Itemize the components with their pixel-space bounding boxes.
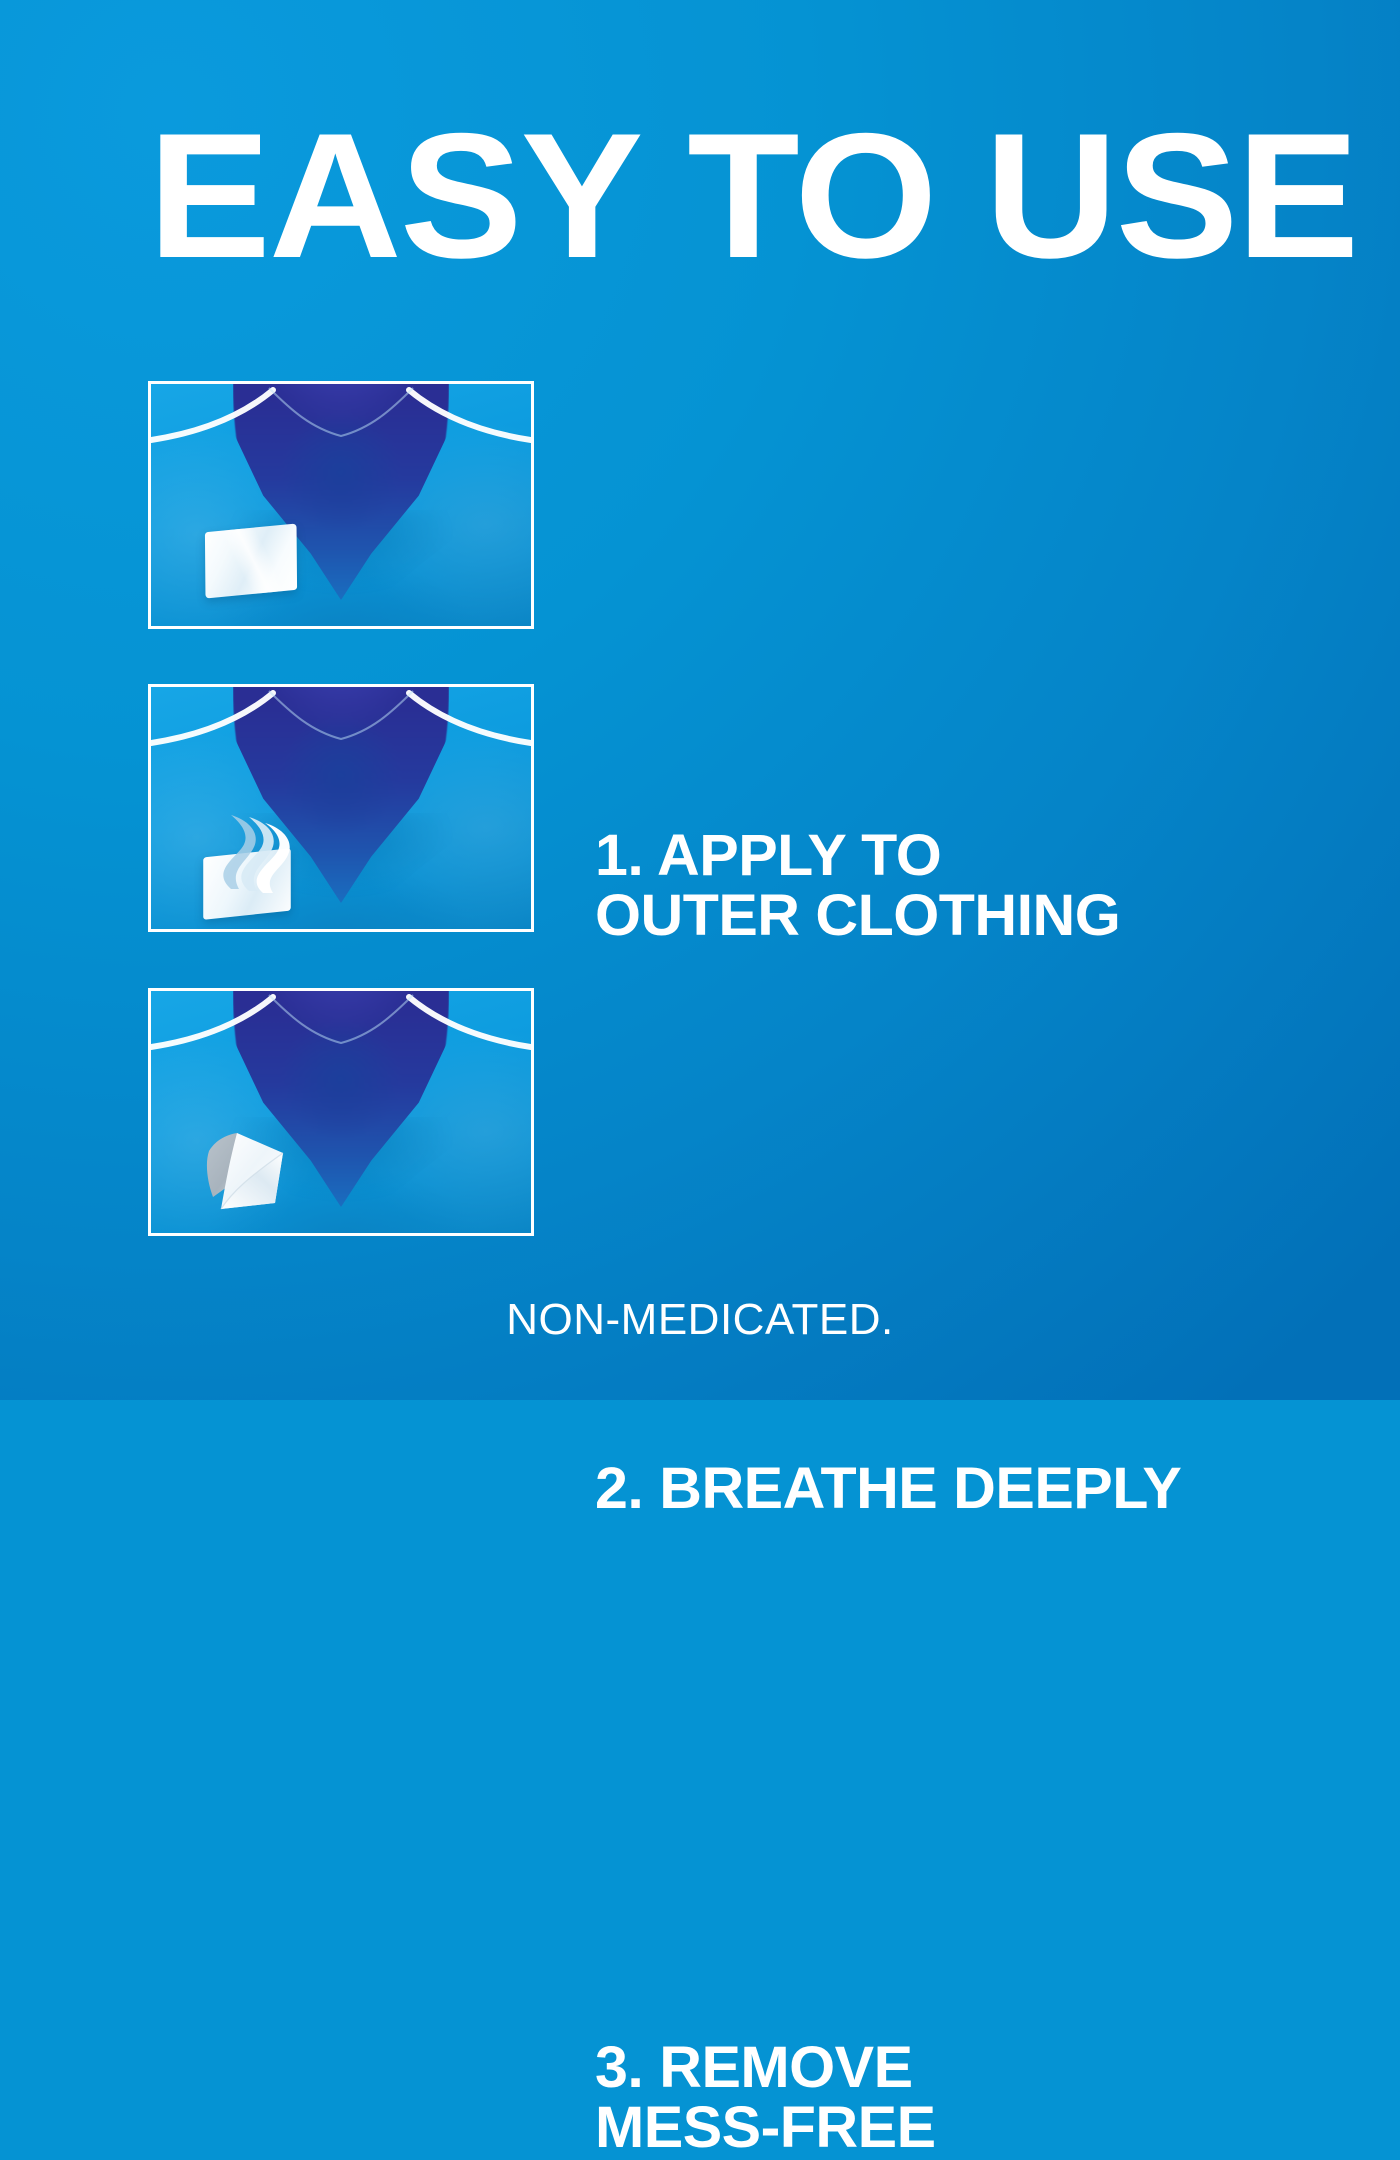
footer-disclaimer: NON-MEDICATED. [0,1295,1400,1345]
step-3-caption-line-2: MESS-FREE [595,2098,936,2158]
step-1-caption: 1. APPLY TO OUTER CLOTHING [595,826,1120,945]
vapor-wisps-icon [197,805,317,901]
step-2-illustration-panel [148,684,534,932]
step-2-caption-line-1: 2. BREATHE DEEPLY [595,1459,1181,1519]
step-3-caption: 3. REMOVE MESS-FREE [595,2038,936,2157]
page-title: EASY TO USE [148,118,1369,275]
patch-on-shirt-icon [151,384,531,626]
adhesive-patch-icon [205,523,297,598]
peeled-patch-icon [199,1125,315,1221]
patch-group-step3 [197,1117,317,1217]
step-1-caption-line-1: 1. APPLY TO [595,826,1120,886]
step-2-caption: 2. BREATHE DEEPLY [595,1459,1181,1519]
step-1-illustration-panel [148,381,534,629]
patch-group-step1 [197,510,317,610]
step-3-illustration-panel [148,988,534,1236]
step-1-caption-line-2: OUTER CLOTHING [595,886,1120,946]
vapor-rising-icon [151,687,531,929]
infographic-canvas: EASY TO USE 1. APPLY TO [0,0,1400,1400]
step-3-caption-line-1: 3. REMOVE [595,2038,936,2098]
patch-peeling-icon [151,991,531,1233]
patch-group-step2 [197,813,317,913]
